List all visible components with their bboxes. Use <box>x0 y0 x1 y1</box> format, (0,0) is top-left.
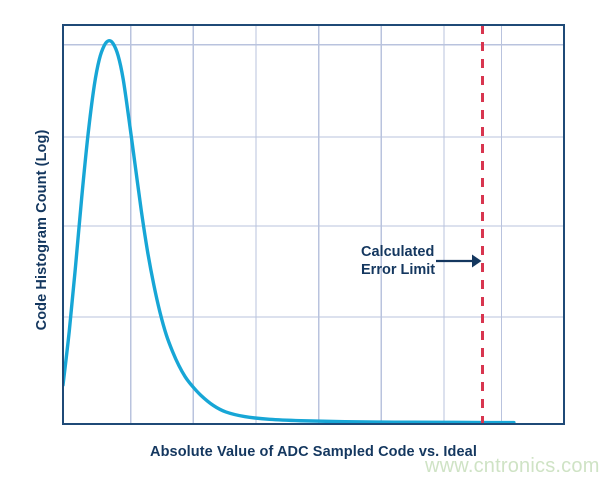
annotation-line-1: Calculated <box>361 243 435 261</box>
plot-area <box>0 0 600 483</box>
chart-figure: Calculated Error Limit Code Histogram Co… <box>0 0 600 483</box>
site-watermark: www.cntronics.com <box>425 455 600 478</box>
y-axis-title: Code Histogram Count (Log) <box>30 20 54 440</box>
plot-background <box>63 25 564 424</box>
annotation-line-2: Error Limit <box>361 261 435 279</box>
error-limit-annotation: Calculated Error Limit <box>361 243 435 279</box>
